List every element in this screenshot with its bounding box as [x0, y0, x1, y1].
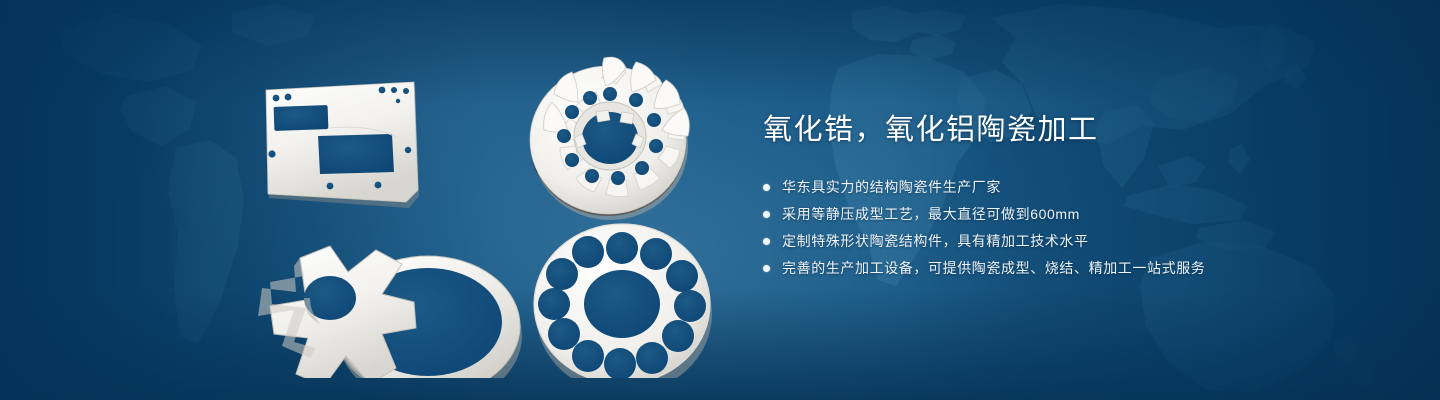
page-title: 氧化锆，氧化铝陶瓷加工	[763, 110, 1363, 150]
bullet-dot-icon	[763, 211, 770, 218]
feature-list: 华东具实力的结构陶瓷件生产厂家 采用等静压成型工艺，最大直径可做到600mm 定…	[763, 177, 1363, 279]
bullet-dot-icon	[763, 184, 770, 191]
list-item: 华东具实力的结构陶瓷件生产厂家	[763, 177, 1363, 198]
feature-text: 完善的生产加工设备，可提供陶瓷成型、烧结、精加工一站式服务	[782, 258, 1205, 279]
list-item: 采用等静压成型工艺，最大直径可做到600mm	[763, 204, 1363, 225]
list-item: 完善的生产加工设备，可提供陶瓷成型、烧结、精加工一站式服务	[763, 258, 1363, 279]
banner-copy: 氧化锆，氧化铝陶瓷加工 华东具实力的结构陶瓷件生产厂家 采用等静压成型工艺，最大…	[763, 110, 1363, 285]
list-item: 定制特殊形状陶瓷结构件，具有精加工技术水平	[763, 231, 1363, 252]
feature-text: 定制特殊形状陶瓷结构件，具有精加工技术水平	[782, 231, 1089, 252]
ceramic-cross-plate-and-ring	[258, 246, 522, 378]
hero-banner: 氧化锆，氧化铝陶瓷加工 华东具实力的结构陶瓷件生产厂家 采用等静压成型工艺，最大…	[0, 0, 1440, 400]
ceramic-perforated-disc	[534, 224, 712, 378]
bullet-dot-icon	[763, 238, 770, 245]
feature-text: 采用等静压成型工艺，最大直径可做到600mm	[782, 204, 1080, 225]
product-photo-collage	[232, 42, 718, 378]
ceramic-machined-plate	[266, 82, 419, 208]
feature-text: 华东具实力的结构陶瓷件生产厂家	[782, 177, 1001, 198]
ceramic-vaned-impeller	[530, 57, 689, 220]
bullet-dot-icon	[763, 265, 770, 272]
